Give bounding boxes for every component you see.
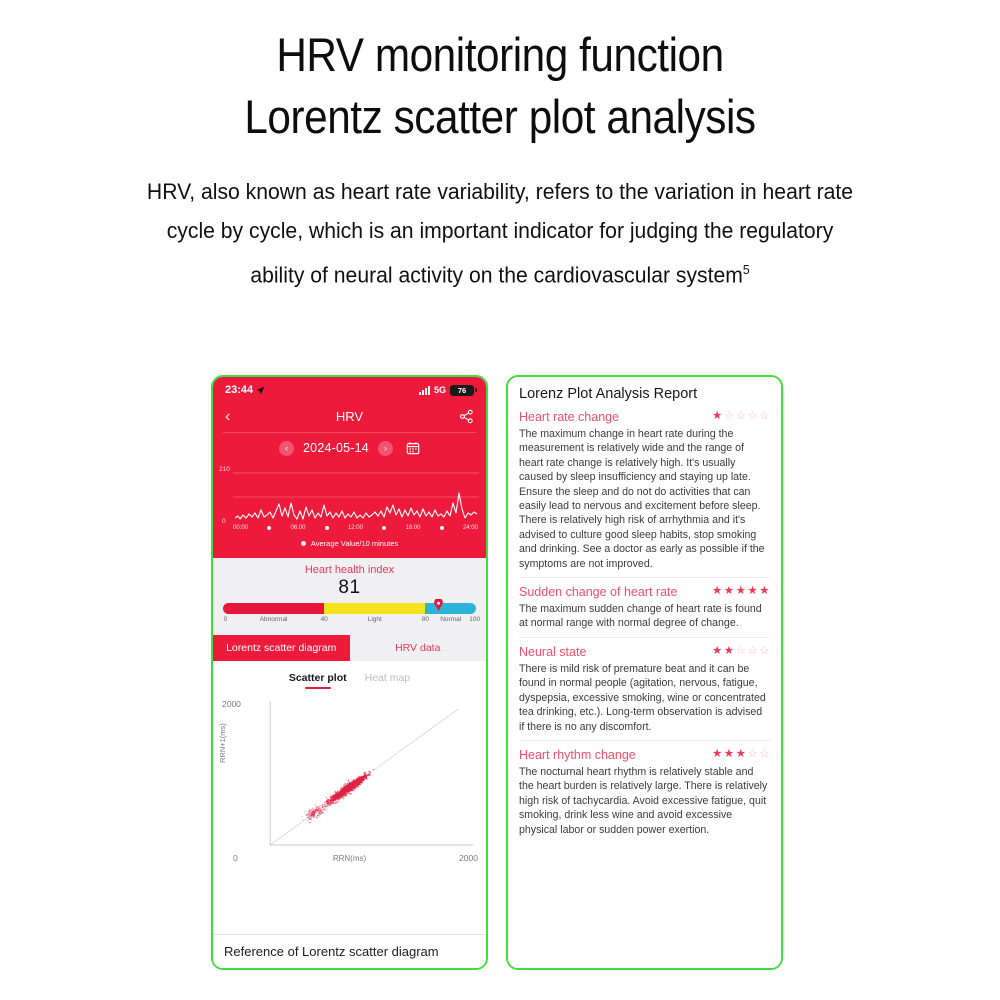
tab-hrv-data[interactable]: HRV data	[350, 635, 487, 661]
heart-rate-chart: 210 0 00:00 06:00 12:00 18:00	[213, 463, 486, 558]
rating-stars: ★★★★★	[712, 586, 770, 598]
battery-level: 76	[458, 386, 466, 395]
rating-stars: ★☆☆☆☆	[712, 411, 770, 423]
hr-x-tick-2: 12:00	[348, 525, 363, 531]
star-filled-icon: ★	[759, 586, 770, 598]
phone-screen: 23:44 5G 76 ‹ HRV	[213, 377, 486, 968]
star-filled-icon: ★	[736, 749, 747, 761]
primary-tab-bar: Lorentz scatter diagram HRV data	[213, 635, 486, 661]
star-filled-icon: ★	[724, 586, 735, 598]
status-bar-left: 23:44	[225, 384, 265, 396]
report-section-label: Heart rate change	[519, 410, 619, 424]
hr-x-tick-0: 00:00	[233, 525, 248, 531]
hr-x-dot-2	[325, 526, 329, 530]
status-time: 23:44	[225, 384, 253, 396]
status-bar-right: 5G 76	[419, 385, 474, 396]
hr-chart-y-max: 210	[219, 466, 230, 473]
star-empty-icon: ☆	[736, 646, 747, 658]
scatter-y-max: 2000	[222, 699, 241, 709]
hr-chart-y-min: 0	[222, 518, 226, 525]
gauge-tick-0: 0	[224, 616, 228, 623]
star-filled-icon: ★	[736, 586, 747, 598]
report-section-header: Heart rhythm change★★★☆☆	[519, 748, 770, 762]
star-filled-icon: ★	[724, 646, 735, 658]
report-section-list: Heart rate change★☆☆☆☆The maximum change…	[519, 409, 770, 843]
star-filled-icon: ★	[712, 586, 723, 598]
report-section: Neural state★★☆☆☆There is mild risk of p…	[519, 637, 770, 740]
phone-red-header-area: 23:44 5G 76 ‹ HRV	[213, 377, 486, 558]
report-section-label: Sudden change of heart rate	[519, 585, 677, 599]
hr-chart-x-axis: 00:00 06:00 12:00 18:00 24:00	[233, 525, 478, 531]
tab-scatter-plot[interactable]: Scatter plot	[289, 672, 347, 689]
legend-dot-icon	[301, 541, 306, 546]
gauge-segment-abnormal	[223, 603, 324, 614]
selected-date: 2024-05-14	[303, 441, 369, 455]
page-title-line-2: Lorentz scatter plot analysis	[50, 86, 950, 148]
star-empty-icon: ☆	[759, 411, 770, 423]
star-empty-icon: ☆	[747, 749, 758, 761]
share-icon[interactable]	[459, 409, 474, 424]
gauge-tick-100: 100	[469, 616, 480, 623]
star-filled-icon: ★	[712, 646, 723, 658]
health-index-title: Heart health index	[223, 564, 476, 576]
hr-x-dot-4	[440, 526, 444, 530]
date-next-button[interactable]: ›	[378, 441, 393, 456]
page-title: HRV monitoring function Lorentz scatter …	[0, 24, 1000, 148]
back-chevron-icon[interactable]: ‹	[225, 409, 230, 425]
page-title-line-1: HRV monitoring function	[50, 24, 950, 86]
scatter-caption: Reference of Lorentz scatter diagram	[213, 934, 486, 968]
star-empty-icon: ☆	[747, 411, 758, 423]
hr-x-tick-3: 18:00	[405, 525, 420, 531]
hr-x-tick-4: 24:00	[463, 525, 478, 531]
hr-chart-legend: Average Value/10 minutes	[213, 539, 486, 548]
health-gauge	[223, 603, 476, 614]
gauge-tick-40: 40	[321, 616, 328, 623]
report-section-header: Sudden change of heart rate★★★★★	[519, 585, 770, 599]
scatter-y-axis-label: RRN+1(ms)	[218, 723, 227, 763]
report-section-label: Neural state	[519, 645, 586, 659]
star-empty-icon: ☆	[736, 411, 747, 423]
calendar-icon[interactable]	[406, 441, 420, 455]
scatter-plot-canvas	[219, 693, 480, 863]
page-subtitle: HRV, also known as heart rate variabilit…	[143, 172, 857, 295]
star-filled-icon: ★	[747, 586, 758, 598]
report-section: Heart rhythm change★★★☆☆The nocturnal he…	[519, 740, 770, 843]
signal-bars-icon	[419, 386, 430, 395]
tab-heat-map[interactable]: Heat map	[365, 672, 411, 689]
secondary-tab-bar: Scatter plot Heat map	[213, 661, 486, 693]
scatter-x-max: 2000	[459, 853, 478, 863]
hr-x-dot-1	[267, 526, 271, 530]
health-index-value: 81	[223, 577, 476, 599]
location-arrow-icon	[256, 386, 265, 395]
gauge-segment-light	[324, 603, 425, 614]
gauge-marker-icon	[434, 598, 443, 610]
report-section-body: The nocturnal heart rhythm is relatively…	[519, 765, 770, 837]
lorentz-scatter-plot: 2000 RRN+1(ms) 0 RRN(ms) 2000	[213, 693, 486, 888]
date-navigator: ‹ 2024-05-14 ›	[213, 433, 486, 463]
gauge-zone-light: Light	[368, 616, 382, 623]
star-empty-icon: ☆	[724, 411, 735, 423]
report-title: Lorenz Plot Analysis Report	[519, 386, 770, 402]
rating-stars: ★★★☆☆	[712, 749, 770, 761]
star-filled-icon: ★	[712, 411, 723, 423]
analysis-report-card: Lorenz Plot Analysis Report Heart rate c…	[506, 375, 783, 970]
rating-stars: ★★☆☆☆	[712, 646, 770, 658]
report-section-body: There is mild risk of premature beat and…	[519, 662, 770, 734]
report-section-body: The maximum sudden change of heart rate …	[519, 602, 770, 631]
gauge-tick-80: 80	[422, 616, 429, 623]
report-section: Heart rate change★☆☆☆☆The maximum change…	[519, 409, 770, 577]
report-body: Lorenz Plot Analysis Report Heart rate c…	[508, 377, 781, 968]
page-subtitle-footnote: 5	[743, 262, 750, 277]
app-title: HRV	[213, 409, 486, 424]
page-root: HRV monitoring function Lorentz scatter …	[0, 0, 1000, 1000]
hr-chart-legend-label: Average Value/10 minutes	[311, 539, 398, 548]
heart-health-index-panel: Heart health index 81 0 Abnormal 40	[213, 558, 486, 635]
report-section-header: Neural state★★☆☆☆	[519, 645, 770, 659]
report-section-header: Heart rate change★☆☆☆☆	[519, 410, 770, 424]
gauge-zone-normal: Normal	[440, 616, 461, 623]
report-section-body: The maximum change in heart rate during …	[519, 427, 770, 571]
date-prev-button[interactable]: ‹	[279, 441, 294, 456]
star-empty-icon: ☆	[759, 749, 770, 761]
app-navbar: ‹ HRV	[213, 401, 486, 432]
battery-icon: 76	[450, 385, 474, 396]
star-empty-icon: ☆	[759, 646, 770, 658]
phone-screenshot-card: 23:44 5G 76 ‹ HRV	[211, 375, 488, 970]
star-filled-icon: ★	[724, 749, 735, 761]
hr-x-dot-3	[382, 526, 386, 530]
scatter-x-axis-label: RRN(ms)	[213, 854, 486, 863]
star-empty-icon: ☆	[747, 646, 758, 658]
status-bar: 23:44 5G 76	[213, 377, 486, 401]
health-gauge-labels: 0 Abnormal 40 Light 80 Normal 100	[223, 616, 476, 627]
tab-lorentz-scatter-diagram[interactable]: Lorentz scatter diagram	[213, 635, 350, 661]
gauge-zone-abnormal: Abnormal	[260, 616, 288, 623]
network-label: 5G	[434, 385, 446, 395]
report-section-label: Heart rhythm change	[519, 748, 636, 762]
star-filled-icon: ★	[712, 749, 723, 761]
report-section: Sudden change of heart rate★★★★★The maxi…	[519, 577, 770, 637]
hr-x-tick-1: 06:00	[290, 525, 305, 531]
